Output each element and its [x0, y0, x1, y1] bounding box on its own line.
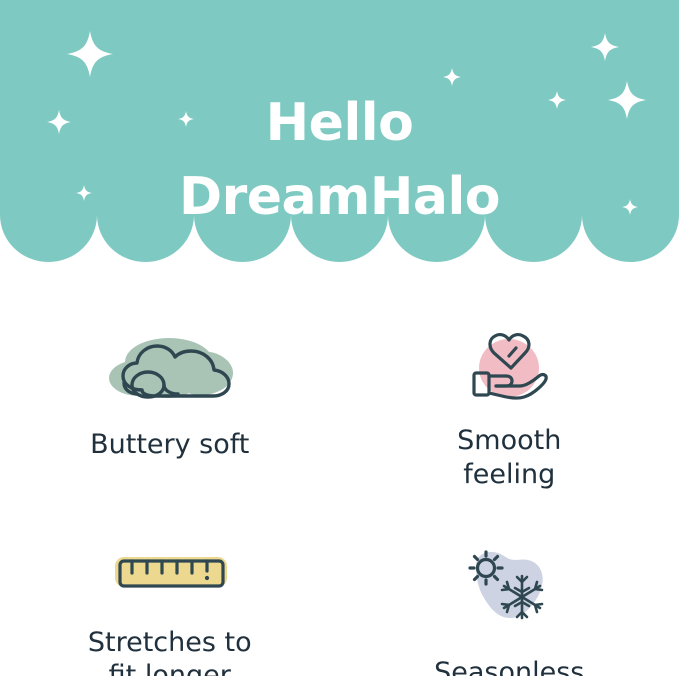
feature-label: Seasonless [434, 656, 584, 676]
feature-label: Smooth feeling [457, 424, 561, 492]
ruler-icon [105, 544, 235, 600]
page-title: Hello DreamHalo [0, 87, 679, 235]
feature-item-stretches-to-fit-longer: Stretches to fit longer [0, 492, 340, 676]
feature-item-smooth-feeling: Smooth feeling [340, 266, 679, 492]
hero-section: Hello DreamHalo [0, 0, 679, 266]
cloud-icon [95, 328, 245, 408]
feature-label: Buttery soft [90, 428, 249, 462]
promo-banner: Hello DreamHalo Buttery soft [0, 0, 679, 676]
feature-grid: Buttery soft Smooth feeling [0, 266, 679, 676]
feature-item-buttery-soft: Buttery soft [0, 266, 340, 492]
hand-heart-icon [454, 328, 564, 408]
feature-item-seasonless: Seasonless [340, 492, 679, 676]
feature-label: Stretches to fit longer [88, 626, 252, 676]
sun-snowflake-icon [454, 544, 564, 626]
